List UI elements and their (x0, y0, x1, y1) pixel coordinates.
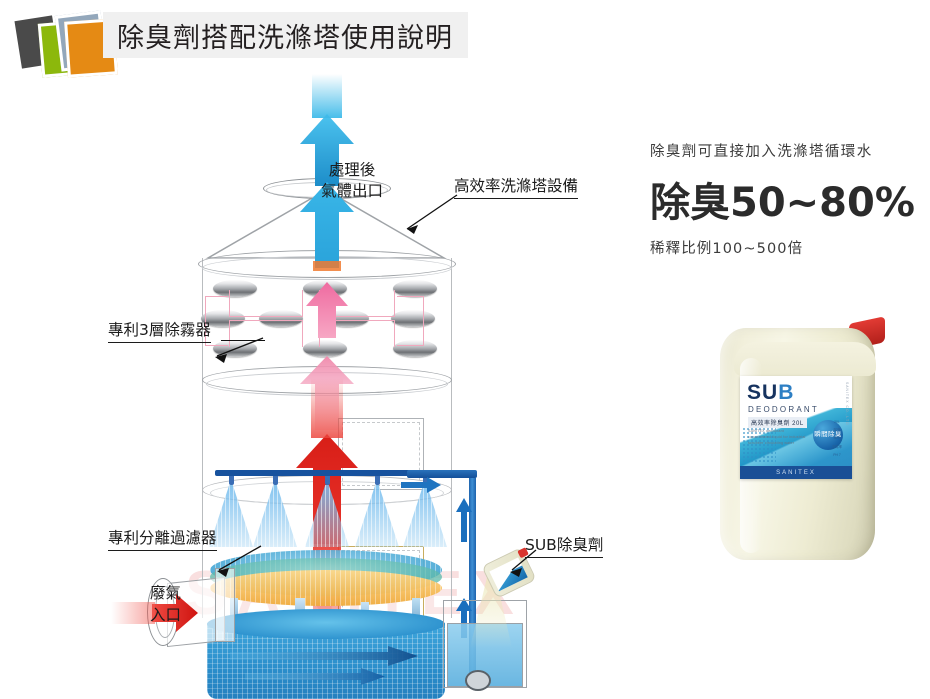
spray-cone (305, 485, 349, 547)
circulation-arrow-upper (230, 646, 418, 666)
spray-cone (253, 485, 297, 547)
leader-filter (205, 544, 263, 580)
page-title: 除臭劑搭配洗滌塔使用說明 (103, 16, 453, 55)
right-panel-headline: 除臭50~80% (650, 170, 925, 228)
callout-gas-outlet-line1: 處理後 (321, 160, 383, 181)
label-spec-item: PH 7 (827, 451, 847, 459)
callout-gas-outlet: 處理後 氣體出口 (321, 160, 383, 202)
page-root: 除臭劑搭配洗滌塔使用說明 SANITEX (0, 0, 930, 644)
page-title-bar: 除臭劑搭配洗滌塔使用說明 (103, 12, 468, 58)
label-spec-item: 20L (827, 418, 847, 426)
label-side-text: SANITEX CO.,LTD (845, 382, 849, 426)
product-jerrycan: SUB DEODORANT 高效率除臭劑 20L SANITEX deodora… (712, 310, 887, 565)
callout-waste-gas-line2: 入口 (150, 605, 181, 627)
spray-nozzle (229, 476, 234, 485)
callout-waste-gas-inlet: 廢氣 入口 (150, 583, 181, 626)
page-header: 除臭劑搭配洗滌塔使用說明 (0, 0, 930, 76)
demister-pipe (397, 296, 424, 346)
spray-nozzle (375, 476, 380, 485)
callout-patented-demister: 專利3層除霧器 (108, 318, 211, 343)
mist-arrow-upper (304, 282, 350, 338)
scrubber-tower-diagram: SANITEX (55, 78, 615, 638)
label-spec-item: 去除率 (827, 443, 847, 451)
callout-patented-separation-filter: 專利分離過濾器 (108, 526, 217, 551)
label-cn-name: 高效率除臭劑 20L (748, 417, 807, 428)
label-brand-part2: B (778, 381, 794, 404)
right-info-panel: 除臭劑可直接加入洗滌塔循環水 除臭50~80% 稀釋比例100~500倍 (650, 140, 925, 258)
label-bottom-band: SANITEX (740, 466, 852, 479)
right-panel-sub: 稀釋比例100~500倍 (650, 237, 925, 258)
stacked-squares-logo (14, 8, 110, 70)
demister-disk (393, 280, 437, 297)
label-spec-item: 80% (827, 434, 847, 442)
product-label: SUB DEODORANT 高效率除臭劑 20L SANITEX deodora… (740, 376, 852, 479)
callout-gas-outlet-line2: 氣體出口 (321, 181, 383, 202)
label-fine-print: SANITEX deodorant concentrated liquid fo… (748, 429, 808, 446)
water-surface (207, 609, 445, 639)
leader-high-efficiency (395, 193, 459, 237)
right-panel-lead: 除臭劑可直接加入洗滌塔循環水 (650, 140, 925, 161)
label-specs: 20L 除臭 80% 去除率 PH 7 (827, 418, 847, 459)
leader-sub-deodorant (504, 548, 538, 578)
leader-demister-segment (221, 340, 265, 341)
label-spec-item: 除臭 (827, 426, 847, 434)
demister-pipe (229, 290, 303, 317)
waste-gas-stream (111, 602, 155, 624)
spray-nozzle (325, 476, 330, 485)
spray-cone (355, 485, 399, 547)
header-inflow-arrow (401, 476, 441, 494)
spray-cone (403, 485, 447, 547)
circulation-arrow-lower (245, 668, 385, 685)
callout-waste-gas-line1: 廢氣 (150, 583, 181, 605)
spray-nozzle (273, 476, 278, 485)
transition-marker (313, 261, 341, 271)
riser-flow-arrow-upper (455, 498, 473, 542)
label-brand-part1: SU (747, 381, 778, 404)
clean-gas-plume (312, 74, 342, 118)
label-brand: SUB (747, 382, 794, 403)
label-subtitle: DEODORANT (748, 405, 819, 414)
callout-high-efficiency-scrubber: 高效率洗滌塔設備 (454, 174, 578, 199)
dirty-gas-plume (311, 378, 343, 438)
circulation-pump (465, 670, 491, 691)
